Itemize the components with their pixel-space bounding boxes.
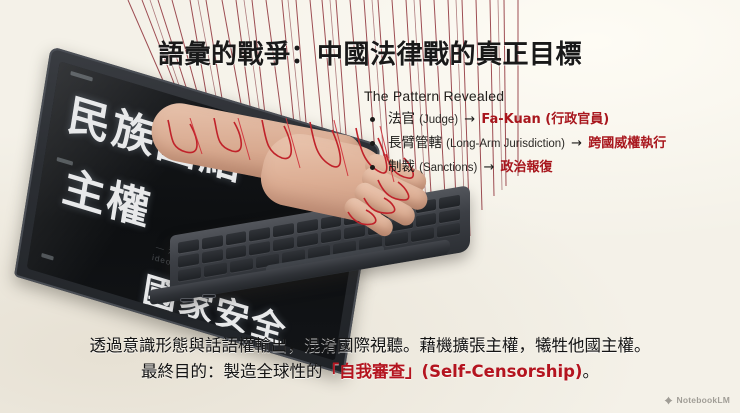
term-en: (Judge) <box>419 114 458 126</box>
slide-canvas: 民族團結 主權 國家安全 — 法律戰 宣傳系統 — ideological co… <box>0 0 740 413</box>
watermark: NotebookLM <box>664 395 730 405</box>
caption-line-1: 透過意識形態與話語權輸出，混淆國際視聽。藉機擴張主權，犧牲他國主權。 <box>0 333 740 359</box>
usb-c-port <box>180 298 194 302</box>
arrow-icon: → <box>462 112 477 127</box>
term-en: (Long-Arm Jurisdiction) <box>446 138 565 150</box>
term-result: 政治報復 <box>501 160 553 175</box>
watermark-label: NotebookLM <box>677 395 730 405</box>
usb-c-port <box>202 294 216 298</box>
list-item: 長臂管轄 (Long-Arm Jurisdiction) → 跨國威權執行 <box>364 134 736 154</box>
list-item: 法官 (Judge) → Fa-Kuan (行政官員) <box>364 110 736 130</box>
term-cjk: 制裁 <box>388 159 415 175</box>
arrow-icon: → <box>481 160 496 175</box>
list-item: 制裁 (Sanctions) → 政治報復 <box>364 158 736 178</box>
caption-line-2: 最終目的：製造全球性的「自我審查」(Self-Censorship)。 <box>0 359 740 385</box>
caption-line-2-pre: 最終目的：製造全球性的 <box>141 362 323 381</box>
pattern-block: The Pattern Revealed 法官 (Judge) → Fa-Kua… <box>364 88 736 182</box>
term-en: (Sanctions) <box>419 162 477 174</box>
arrow-icon: → <box>569 136 584 151</box>
bullet-dot <box>370 141 375 146</box>
caption-block: 透過意識形態與話語權輸出，混淆國際視聽。藉機擴張主權，犧牲他國主權。 最終目的：… <box>0 333 740 384</box>
term-cjk: 長臂管轄 <box>388 135 442 151</box>
caption-line-2-highlight: 「自我審查」(Self-Censorship) <box>323 362 583 381</box>
pattern-list: 法官 (Judge) → Fa-Kuan (行政官員) 長臂管轄 (Long-A… <box>364 110 736 178</box>
bullet-dot <box>370 165 375 170</box>
bullet-dot <box>370 117 375 122</box>
page-title: 語彙的戰爭：中國法律戰的真正目標 <box>0 34 740 71</box>
term-result: 跨國威權執行 <box>588 136 666 151</box>
pattern-heading: The Pattern Revealed <box>364 88 736 104</box>
caption-line-2-post: 。 <box>582 362 599 381</box>
notebooklm-logo-icon <box>664 396 673 405</box>
term-result: Fa-Kuan (行政官員) <box>481 112 609 127</box>
laptop-hand-photo: 民族團結 主權 國家安全 — 法律戰 宣傳系統 — ideological co… <box>0 40 470 330</box>
term-cjk: 法官 <box>388 111 415 127</box>
